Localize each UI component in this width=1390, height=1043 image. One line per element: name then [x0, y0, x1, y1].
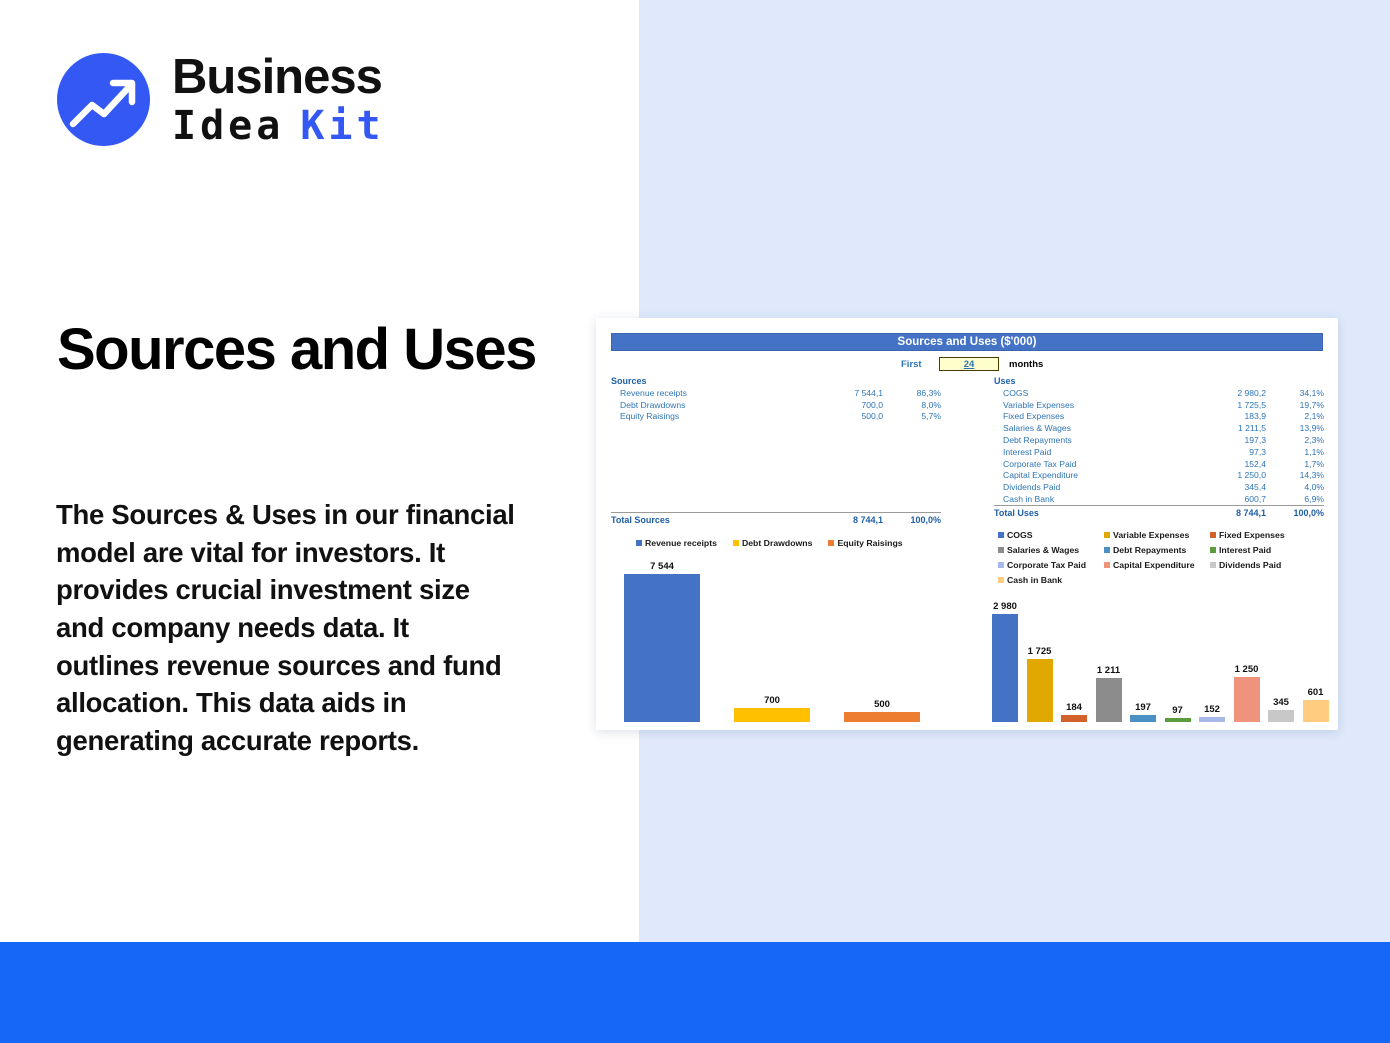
uses-table: Uses COGS2 980,234,1%Variable Expenses1 … — [994, 376, 1324, 520]
uses-legend-item[interactable]: Cash in Bank — [998, 575, 1104, 585]
legend-swatch-icon — [1104, 547, 1110, 553]
table-row: Capital Expenditure1 250,014,3% — [994, 470, 1324, 482]
body-paragraph: The Sources & Uses in our financial mode… — [56, 496, 516, 760]
uses-legend-label: Cash in Bank — [1007, 575, 1062, 585]
bar[interactable] — [1268, 710, 1294, 723]
table-row: Salaries & Wages1 211,513,9% — [994, 422, 1324, 434]
legend-swatch-icon — [1210, 562, 1216, 568]
months-prefix-label: First — [901, 359, 922, 370]
uses-legend-item[interactable]: Capital Expenditure — [1104, 560, 1210, 570]
bar[interactable] — [1061, 715, 1087, 722]
bar-value-label: 500 — [874, 699, 890, 710]
bar-column: 7 544 — [624, 561, 700, 722]
uses-row-value: 152,4 — [1192, 459, 1266, 469]
uses-row-value: 197,3 — [1192, 435, 1266, 445]
bar-value-label: 184 — [1066, 702, 1082, 713]
uses-row-label: Capital Expenditure — [994, 470, 1192, 480]
page-title: Sources and Uses — [57, 318, 557, 383]
uses-legend-label: Corporate Tax Paid — [1007, 560, 1086, 570]
bar[interactable] — [1234, 677, 1260, 722]
uses-table-header: Uses — [994, 376, 1324, 386]
table-row: Revenue receipts7 544,186,3% — [611, 387, 941, 399]
legend-swatch-icon — [636, 540, 642, 546]
sources-row-label: Equity Raisings — [611, 411, 809, 421]
uses-row-value: 97,3 — [1192, 447, 1266, 457]
months-input-value: 24 — [964, 359, 975, 370]
sources-row-label: Revenue receipts — [611, 388, 809, 398]
uses-legend-label: Interest Paid — [1219, 545, 1271, 555]
uses-legend-label: Fixed Expenses — [1219, 530, 1285, 540]
uses-row-value: 1 250,0 — [1192, 470, 1266, 480]
brand-name-primary: Business — [172, 53, 385, 102]
uses-legend-label: COGS — [1007, 530, 1033, 540]
uses-row-label: COGS — [994, 388, 1192, 398]
uses-legend-label: Debt Repayments — [1113, 545, 1186, 555]
sources-total-row: Total Sources 8 744,1 100,0% — [611, 512, 941, 525]
uses-row-pct: 4,0% — [1266, 482, 1324, 492]
table-row: Equity Raisings500,05,7% — [611, 411, 941, 423]
uses-legend-item[interactable]: Salaries & Wages — [998, 545, 1104, 555]
table-row: Debt Drawdowns700,08,0% — [611, 399, 941, 411]
sources-legend-label: Revenue receipts — [645, 538, 717, 548]
uses-row-pct: 19,7% — [1266, 400, 1324, 410]
uses-total-label: Total Uses — [994, 508, 1192, 518]
bar[interactable] — [1130, 715, 1156, 722]
bar-column: 97 — [1165, 705, 1191, 722]
uses-row-value: 2 980,2 — [1192, 388, 1266, 398]
uses-legend-label: Capital Expenditure — [1113, 560, 1195, 570]
uses-row-pct: 34,1% — [1266, 388, 1324, 398]
sources-table: Sources Revenue receipts7 544,186,3%Debt… — [611, 376, 941, 422]
bar[interactable] — [992, 614, 1018, 722]
sources-legend-label: Debt Drawdowns — [742, 538, 812, 548]
uses-legend-label: Variable Expenses — [1113, 530, 1189, 540]
bar-value-label: 1 250 — [1235, 664, 1259, 675]
uses-row-pct: 2,3% — [1266, 435, 1324, 445]
bar-column: 500 — [844, 699, 920, 722]
bar-value-label: 152 — [1204, 704, 1220, 715]
months-input-row: First 24 months — [611, 356, 1323, 372]
legend-swatch-icon — [998, 532, 1004, 538]
legend-swatch-icon — [1210, 547, 1216, 553]
bar-column: 197 — [1130, 702, 1156, 722]
bar-column: 1 250 — [1234, 664, 1260, 722]
months-suffix-label: months — [1009, 359, 1043, 370]
sources-row-pct: 86,3% — [883, 388, 941, 398]
bar-value-label: 1 211 — [1097, 665, 1120, 676]
table-row: Variable Expenses1 725,519,7% — [994, 399, 1324, 411]
legend-swatch-icon — [1104, 562, 1110, 568]
bar[interactable] — [1165, 718, 1191, 722]
sources-row-value: 500,0 — [809, 411, 883, 421]
uses-legend-item[interactable]: Fixed Expenses — [1210, 530, 1316, 540]
sources-total-pct: 100,0% — [883, 515, 941, 525]
bar-column: 2 980 — [992, 601, 1018, 722]
uses-legend-label: Dividends Paid — [1219, 560, 1281, 570]
bar-value-label: 97 — [1172, 705, 1183, 716]
sources-row-pct: 8,0% — [883, 400, 941, 410]
uses-chart-legend: COGSVariable ExpensesFixed ExpensesSalar… — [998, 530, 1318, 590]
sources-legend-item[interactable]: Revenue receipts — [636, 538, 717, 548]
uses-row-value: 1 211,5 — [1192, 423, 1266, 433]
uses-legend-item[interactable]: COGS — [998, 530, 1104, 540]
uses-row-label: Variable Expenses — [994, 400, 1192, 410]
bar-column: 152 — [1199, 704, 1225, 723]
uses-legend-item[interactable]: Interest Paid — [1210, 545, 1316, 555]
bar-column: 184 — [1061, 702, 1087, 722]
table-row: COGS2 980,234,1% — [994, 387, 1324, 399]
sources-legend-item[interactable]: Debt Drawdowns — [733, 538, 812, 548]
legend-swatch-icon — [1104, 532, 1110, 538]
table-row: Debt Repayments197,32,3% — [994, 434, 1324, 446]
uses-row-label: Salaries & Wages — [994, 423, 1192, 433]
uses-row-label: Debt Repayments — [994, 435, 1192, 445]
bar-column: 1 211 — [1096, 665, 1122, 722]
sources-total-label: Total Sources — [611, 515, 809, 525]
bar-column: 345 — [1268, 697, 1294, 723]
bar-column: 1 725 — [1027, 646, 1053, 722]
table-row: Interest Paid97,31,1% — [994, 446, 1324, 458]
uses-legend-item[interactable]: Variable Expenses — [1104, 530, 1210, 540]
sources-table-header: Sources — [611, 376, 941, 386]
uses-row-pct: 6,9% — [1266, 494, 1324, 504]
uses-row-pct: 1,7% — [1266, 459, 1324, 469]
sources-row-pct: 5,7% — [883, 411, 941, 421]
uses-total-pct: 100,0% — [1266, 508, 1324, 518]
sources-rows: Revenue receipts7 544,186,3%Debt Drawdow… — [611, 387, 941, 422]
table-row: Cash in Bank600,76,9% — [994, 493, 1324, 505]
sources-bar-chart: 7 544700500 — [612, 556, 942, 722]
bar[interactable] — [844, 712, 920, 722]
uses-bar-chart: 2 9801 7251841 211197971521 250345601 — [988, 596, 1328, 722]
bar-value-label: 2 980 — [993, 601, 1017, 612]
uses-row-value: 600,7 — [1192, 494, 1266, 504]
uses-row-label: Corporate Tax Paid — [994, 459, 1192, 469]
bar[interactable] — [734, 708, 810, 722]
bar[interactable] — [624, 574, 700, 722]
bar-value-label: 7 544 — [650, 561, 674, 572]
bar[interactable] — [1303, 700, 1329, 722]
uses-row-label: Dividends Paid — [994, 482, 1192, 492]
table-row: Corporate Tax Paid152,41,7% — [994, 458, 1324, 470]
uses-row-pct: 2,1% — [1266, 411, 1324, 421]
uses-legend-item[interactable]: Dividends Paid — [1210, 560, 1316, 570]
bar-column: 601 — [1303, 687, 1329, 722]
sources-row-label: Debt Drawdowns — [611, 400, 809, 410]
brand-name-accent: Kit — [300, 103, 384, 149]
uses-row-pct: 13,9% — [1266, 423, 1324, 433]
uses-row-label: Fixed Expenses — [994, 411, 1192, 421]
legend-swatch-icon — [998, 547, 1004, 553]
table-row: Fixed Expenses183,92,1% — [994, 411, 1324, 423]
bar[interactable] — [1096, 678, 1122, 722]
bar-value-label: 197 — [1135, 702, 1151, 713]
uses-rows: COGS2 980,234,1%Variable Expenses1 725,5… — [994, 387, 1324, 505]
table-row: Dividends Paid345,44,0% — [994, 481, 1324, 493]
slide-canvas: Business IdeaKit Sources and Uses The So… — [0, 0, 1390, 1043]
sheet-title-bar: Sources and Uses ($'000) — [611, 333, 1323, 351]
bar-column: 700 — [734, 695, 810, 722]
bar-value-label: 700 — [764, 695, 780, 706]
uses-row-value: 1 725,5 — [1192, 400, 1266, 410]
bar-value-label: 1 725 — [1028, 646, 1052, 657]
uses-row-pct: 14,3% — [1266, 470, 1324, 480]
uses-row-value: 345,4 — [1192, 482, 1266, 492]
brand-name-secondary: Idea — [172, 103, 284, 149]
sources-row-value: 700,0 — [809, 400, 883, 410]
legend-swatch-icon — [733, 540, 739, 546]
bar[interactable] — [1199, 717, 1225, 723]
bar-value-label: 345 — [1273, 697, 1289, 708]
brand-logo: Business IdeaKit — [57, 53, 385, 146]
bar-value-label: 601 — [1308, 687, 1324, 698]
uses-legend-item[interactable]: Corporate Tax Paid — [998, 560, 1104, 570]
footer-bar — [0, 942, 1390, 1043]
legend-swatch-icon — [998, 577, 1004, 583]
months-input[interactable]: 24 — [939, 357, 999, 371]
sources-legend-item[interactable]: Equity Raisings — [828, 538, 902, 548]
uses-legend-label: Salaries & Wages — [1007, 545, 1079, 555]
uses-row-pct: 1,1% — [1266, 447, 1324, 457]
legend-swatch-icon — [1210, 532, 1216, 538]
legend-swatch-icon — [828, 540, 834, 546]
sources-chart-legend: Revenue receiptsDebt DrawdownsEquity Rai… — [636, 538, 936, 548]
uses-row-label: Interest Paid — [994, 447, 1192, 457]
bar[interactable] — [1027, 659, 1053, 722]
legend-swatch-icon — [998, 562, 1004, 568]
uses-legend-item[interactable]: Debt Repayments — [1104, 545, 1210, 555]
trend-up-arrow-icon — [57, 53, 150, 146]
uses-total-value: 8 744,1 — [1192, 508, 1266, 518]
uses-total-row: Total Uses 8 744,1 100,0% — [994, 505, 1324, 520]
uses-row-value: 183,9 — [1192, 411, 1266, 421]
uses-row-label: Cash in Bank — [994, 494, 1192, 504]
sources-legend-label: Equity Raisings — [837, 538, 902, 548]
sources-total-value: 8 744,1 — [809, 515, 883, 525]
sources-row-value: 7 544,1 — [809, 388, 883, 398]
